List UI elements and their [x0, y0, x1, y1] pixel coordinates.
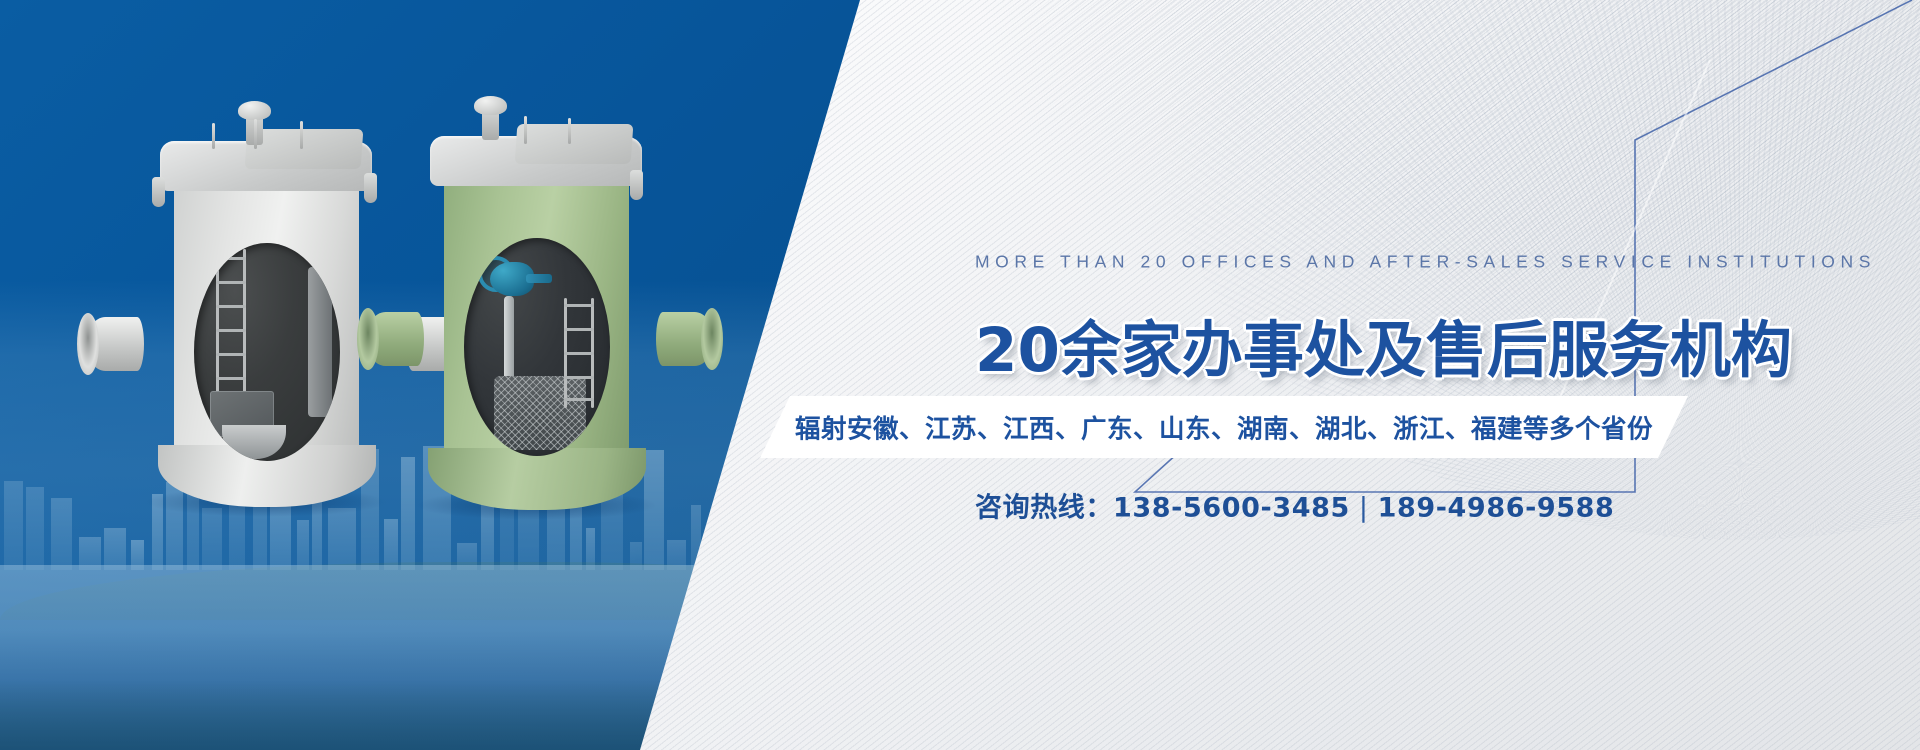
- eyebrow-english-tagline: MORE THAN 20 OFFICES AND AFTER-SALES SER…: [975, 252, 1876, 273]
- page-title: 20余家办事处及售后服务机构: [975, 300, 1792, 389]
- promo-banner: MORE THAN 20 OFFICES AND AFTER-SALES SER…: [0, 0, 1920, 750]
- banner-content: MORE THAN 20 OFFICES AND AFTER-SALES SER…: [0, 0, 1920, 750]
- hotline-phone-1[interactable]: 138-5600-3485: [1113, 493, 1350, 524]
- hotline-row: 咨询热线：138-5600-3485|189-4986-9588: [975, 486, 1614, 525]
- coverage-provinces-text: 辐射安徽、江苏、江西、广东、山东、湖南、湖北、浙江、福建等多个省份: [795, 409, 1653, 446]
- hotline-phone-2[interactable]: 189-4986-9588: [1378, 493, 1615, 524]
- hotline-separator: |: [1350, 493, 1378, 524]
- hotline-label: 咨询热线：: [975, 493, 1113, 524]
